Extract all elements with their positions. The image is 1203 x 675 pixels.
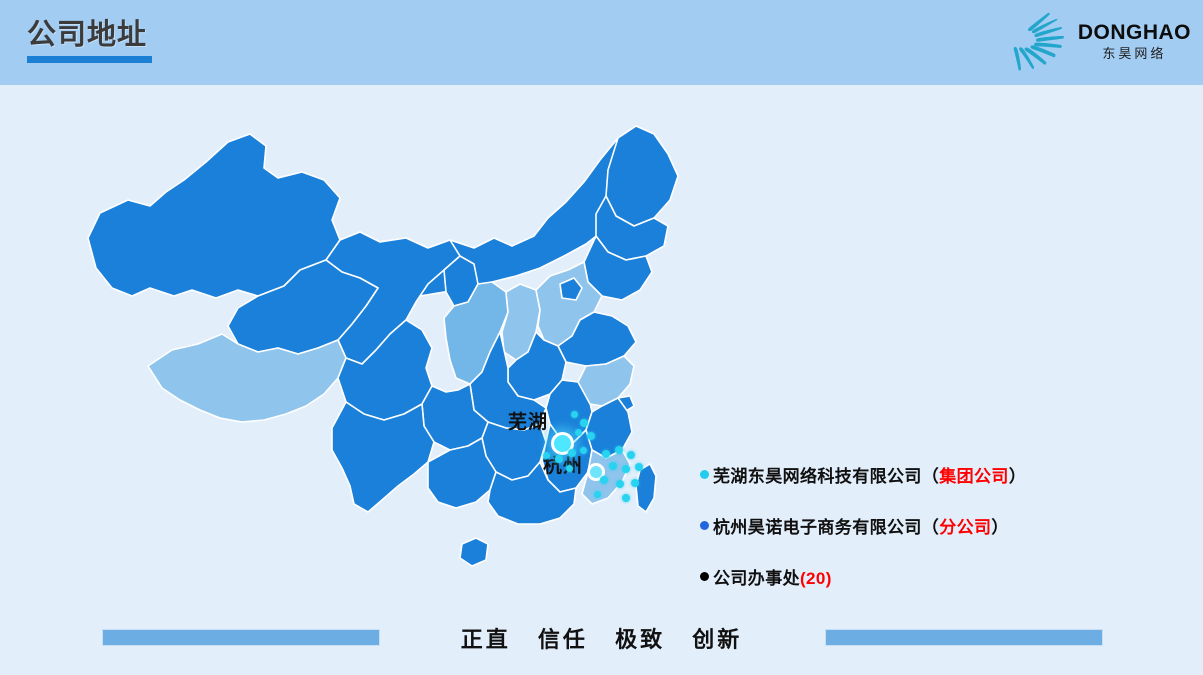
marker-office[interactable]	[555, 455, 563, 463]
marker-office[interactable]	[543, 452, 550, 459]
title-underline	[27, 56, 152, 63]
page-header: 公司地址 DONGHAO 东昊网络	[0, 0, 1203, 85]
marker-office[interactable]	[571, 411, 578, 418]
logo-text: DONGHAO 东昊网络	[1078, 21, 1191, 62]
slogan-word: 创新	[692, 627, 742, 652]
brand-logo: DONGHAO 东昊网络	[1006, 8, 1191, 74]
marker-office[interactable]	[587, 432, 595, 440]
slogan-word: 信任	[538, 627, 588, 652]
legend-bullet-black	[700, 572, 709, 581]
marker-office[interactable]	[622, 465, 630, 473]
marker-office[interactable]	[594, 491, 601, 498]
marker-office[interactable]	[622, 494, 630, 502]
marker-office[interactable]	[600, 476, 608, 484]
page-title: 公司地址	[27, 17, 152, 53]
marker-office[interactable]	[575, 429, 582, 436]
legend-bullet-cyan	[700, 470, 709, 479]
marker-office[interactable]	[631, 479, 639, 487]
marker-office[interactable]	[602, 450, 610, 458]
donghao-fan-logo-icon	[1006, 10, 1076, 72]
china-map-svg	[88, 120, 688, 610]
slogan-word: 极致	[615, 627, 665, 652]
province-heilongjiang	[606, 126, 678, 226]
marker-office[interactable]	[566, 465, 573, 472]
marker-office[interactable]	[568, 449, 576, 457]
page-title-wrap: 公司地址	[27, 17, 152, 63]
legend-item-group-company: 芜湖东昊网络科技有限公司（集团公司）	[700, 462, 1120, 487]
slogan-word: 正直	[461, 627, 511, 652]
marker-office[interactable]	[615, 446, 623, 454]
logo-name-en: DONGHAO	[1078, 21, 1191, 44]
china-map[interactable]: 芜湖 杭州	[88, 120, 688, 610]
footer-slogan: 正直 信任 极致 创新	[0, 622, 1203, 654]
marker-office[interactable]	[580, 419, 588, 427]
legend-label-group-company: 芜湖东昊网络科技有限公司（集团公司）	[713, 462, 1026, 487]
province-zhejiang	[586, 398, 632, 458]
legend: 芜湖东昊网络科技有限公司（集团公司） 杭州昊诺电子商务有限公司（分公司） 公司办…	[700, 462, 1120, 615]
legend-item-branch-company: 杭州昊诺电子商务有限公司（分公司）	[700, 513, 1120, 538]
marker-office[interactable]	[580, 447, 587, 454]
legend-label-branch-company: 杭州昊诺电子商务有限公司（分公司）	[713, 513, 1009, 538]
province-hainan	[460, 538, 488, 566]
marker-office[interactable]	[616, 480, 624, 488]
legend-item-offices: 公司办事处(20)	[700, 564, 1120, 589]
logo-name-cn: 东昊网络	[1102, 45, 1166, 62]
marker-office[interactable]	[635, 463, 643, 471]
legend-label-offices: 公司办事处(20)	[713, 564, 832, 589]
map-label-wuhu: 芜湖	[508, 407, 548, 434]
province-taiwan	[636, 464, 656, 512]
marker-office[interactable]	[627, 451, 635, 459]
legend-bullet-blue	[700, 521, 709, 530]
marker-office[interactable]	[609, 462, 617, 470]
